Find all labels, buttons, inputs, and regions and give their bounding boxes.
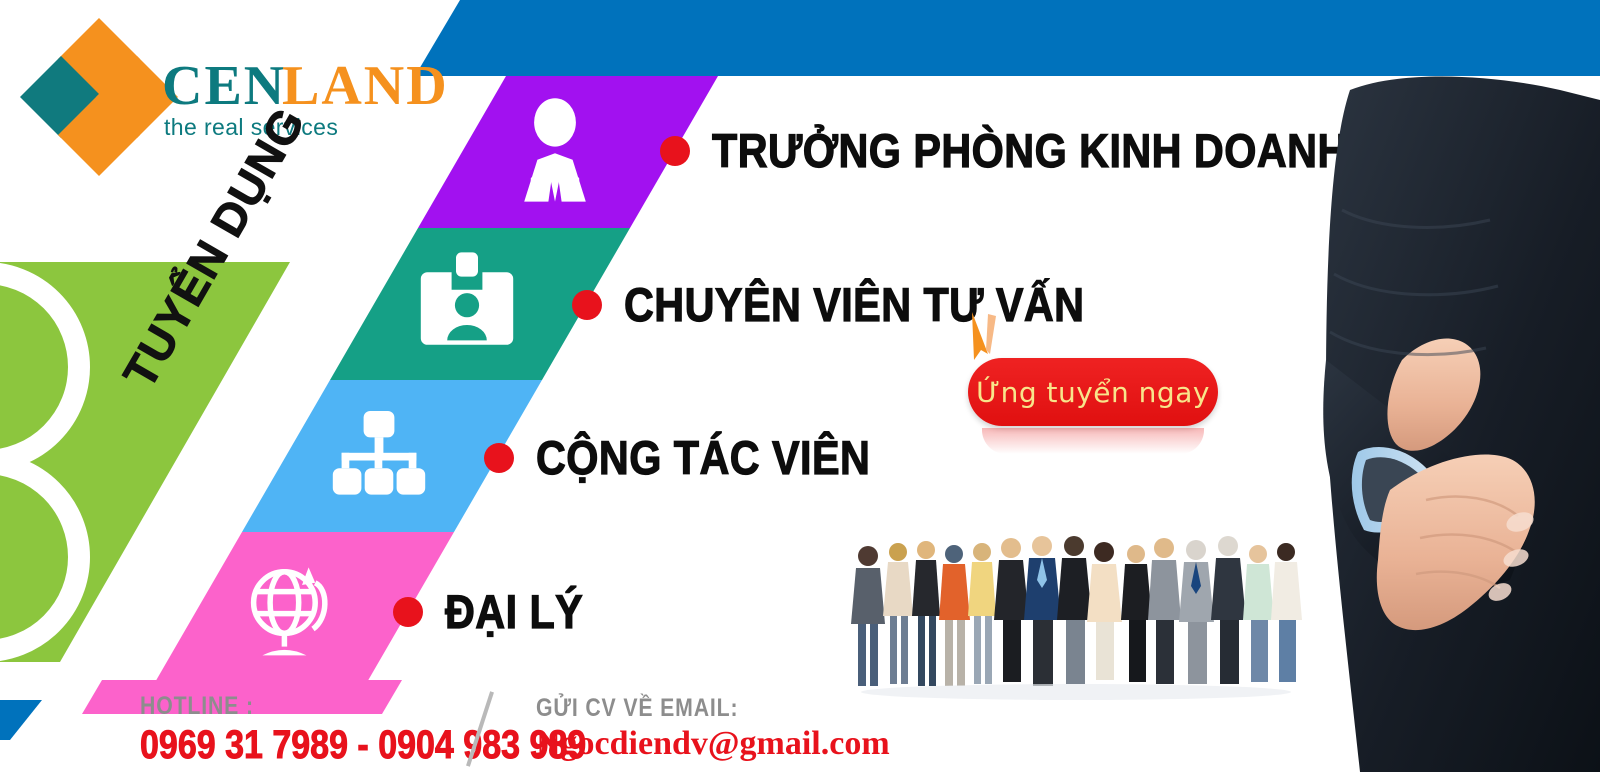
apply-button-reflection [982,428,1204,454]
job-label: CHUYÊN VIÊN TƯ VẤN [624,277,1084,332]
cenland-logo[interactable]: CEN LAND the real services [24,16,424,136]
job-label: CỘNG TÁC VIÊN [536,430,870,485]
bullet-dot-icon [572,290,602,320]
email-caption: GỬI CV VỀ EMAIL: [536,694,837,723]
job-item-agent[interactable]: ĐẠI LÝ [393,584,602,639]
job-item-consultant[interactable]: CHUYÊN VIÊN TƯ VẤN [572,277,1147,332]
businessman-icon [500,96,610,206]
recruitment-banner: CEN LAND the real services [0,0,1600,772]
id-badge-icon [412,248,522,358]
apply-now-button[interactable]: Ứng tuyển ngay [968,358,1218,426]
hotline-numbers[interactable]: 0969 31 7989 - 0904 983 989 [140,723,586,768]
hotline-caption: HOTLINE : [140,692,586,721]
job-item-collaborator[interactable]: CỘNG TÁC VIÊN [484,430,916,485]
job-label: ĐẠI LÝ [445,584,583,639]
email-address[interactable]: Ngocdiendv@gmail.com [536,725,890,763]
globe-icon [236,552,346,662]
apply-button-wrapper: Ứng tuyển ngay [968,358,1218,426]
logo-text-land: LAND [282,54,449,118]
email-block: GỬI CV VỀ EMAIL: Ngocdiendv@gmail.com [536,694,890,763]
org-chart-icon [324,400,434,510]
bullet-dot-icon [393,597,423,627]
bullet-dot-icon [484,443,514,473]
footer-blue-accent [0,700,60,740]
group-of-people-photo [846,530,1306,700]
bullet-dot-icon [660,136,690,166]
